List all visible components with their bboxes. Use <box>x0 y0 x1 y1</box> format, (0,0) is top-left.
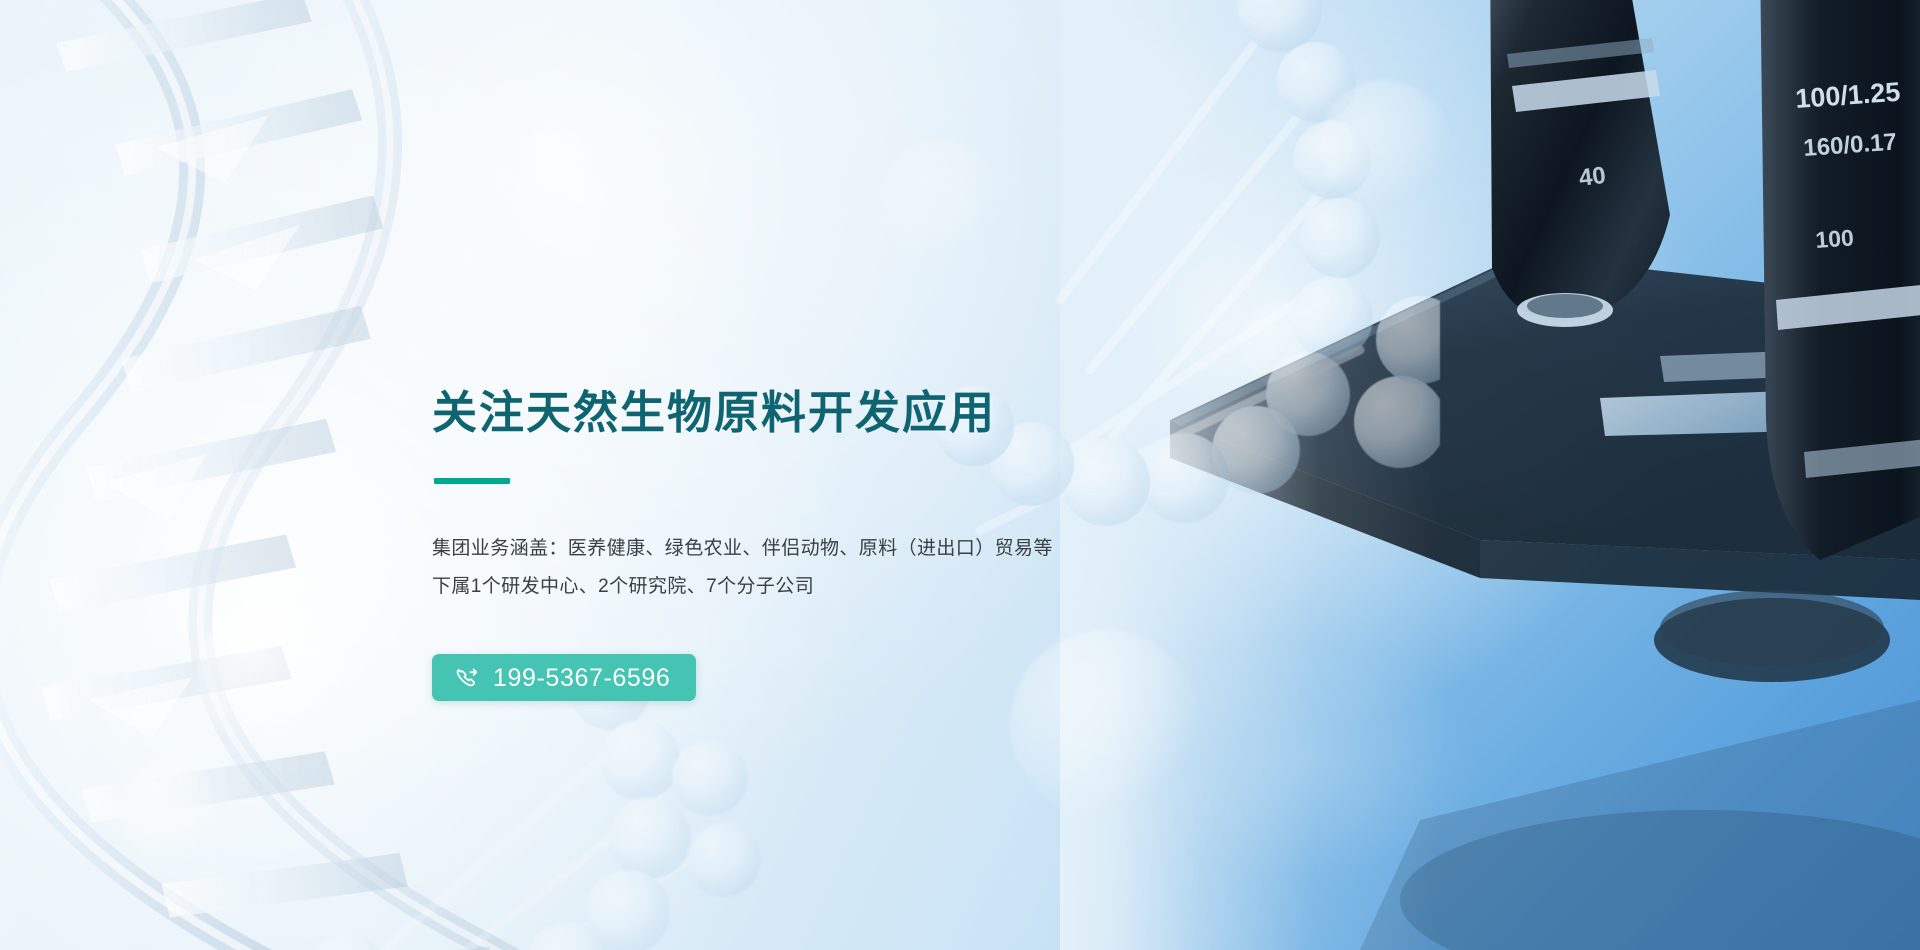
bokeh-highlight <box>1240 300 1330 390</box>
svg-text:100/1.25: 100/1.25 <box>1794 77 1901 114</box>
svg-text:100: 100 <box>1815 224 1855 253</box>
bokeh-highlight <box>120 760 220 860</box>
hero-description: 集团业务涵盖：医养健康、绿色农业、伴侣动物、原料（进出口）贸易等 下属1个研发中… <box>432 530 1332 606</box>
hero-content: 关注天然生物原料开发应用 集团业务涵盖：医养健康、绿色农业、伴侣动物、原料（进出… <box>432 386 1332 701</box>
svg-text:40: 40 <box>1577 162 1607 192</box>
hero-banner: 40 100/1.25 160/0.17 100 <box>0 0 1920 950</box>
phone-cta-button[interactable]: 199-5367-6596 <box>432 654 696 701</box>
bokeh-highlight <box>880 140 1000 260</box>
bokeh-highlight <box>520 120 600 200</box>
page-title: 关注天然生物原料开发应用 <box>432 386 1332 439</box>
svg-text:160/0.17: 160/0.17 <box>1803 129 1898 162</box>
phone-number-label: 199-5367-6596 <box>493 666 670 691</box>
phone-forward-icon <box>454 665 480 691</box>
bokeh-highlight <box>196 600 346 750</box>
bokeh-highlight <box>1320 80 1450 210</box>
hero-description-line-1: 集团业务涵盖：医养健康、绿色农业、伴侣动物、原料（进出口）贸易等 <box>432 530 1332 568</box>
hero-description-line-2: 下属1个研发中心、2个研究院、7个分子公司 <box>432 568 1332 606</box>
title-divider <box>434 478 510 484</box>
